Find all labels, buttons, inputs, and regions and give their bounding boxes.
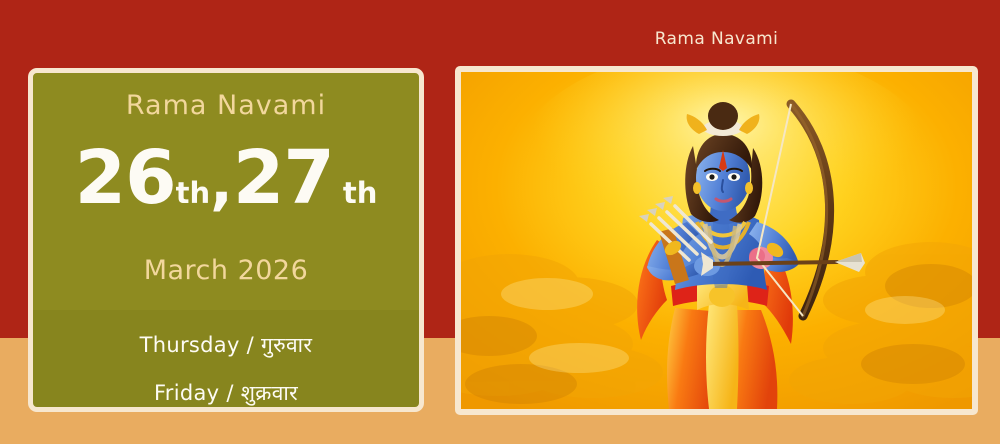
date-line: 26th,27th: [33, 135, 419, 221]
day-number-first: 26: [75, 135, 176, 221]
rama-archer-illustration: [461, 72, 972, 409]
day-suffix-second: th: [343, 176, 378, 210]
day-number-second: 27: [233, 135, 334, 221]
weekday-line-first: Thursday / गुरुवार: [33, 331, 419, 359]
page-root: Rama Navami Rama Navami 26th,27th March …: [0, 0, 1000, 444]
weekday-band: Thursday / गुरुवार Friday / शुक्रवार: [33, 310, 419, 407]
date-card-inner: Rama Navami 26th,27th March 2026 Thursda…: [33, 73, 419, 407]
page-title: Rama Navami: [455, 29, 978, 49]
card-festival-name: Rama Navami: [33, 90, 419, 121]
date-separator: ,: [210, 148, 233, 218]
month-year-label: March 2026: [33, 255, 419, 286]
weekday-line-second: Friday / शुक्रवार: [33, 379, 419, 407]
festival-image-panel[interactable]: [455, 66, 978, 415]
date-card[interactable]: Rama Navami 26th,27th March 2026 Thursda…: [28, 68, 424, 412]
image-frame: [461, 72, 972, 409]
day-suffix-first: th: [176, 176, 211, 210]
